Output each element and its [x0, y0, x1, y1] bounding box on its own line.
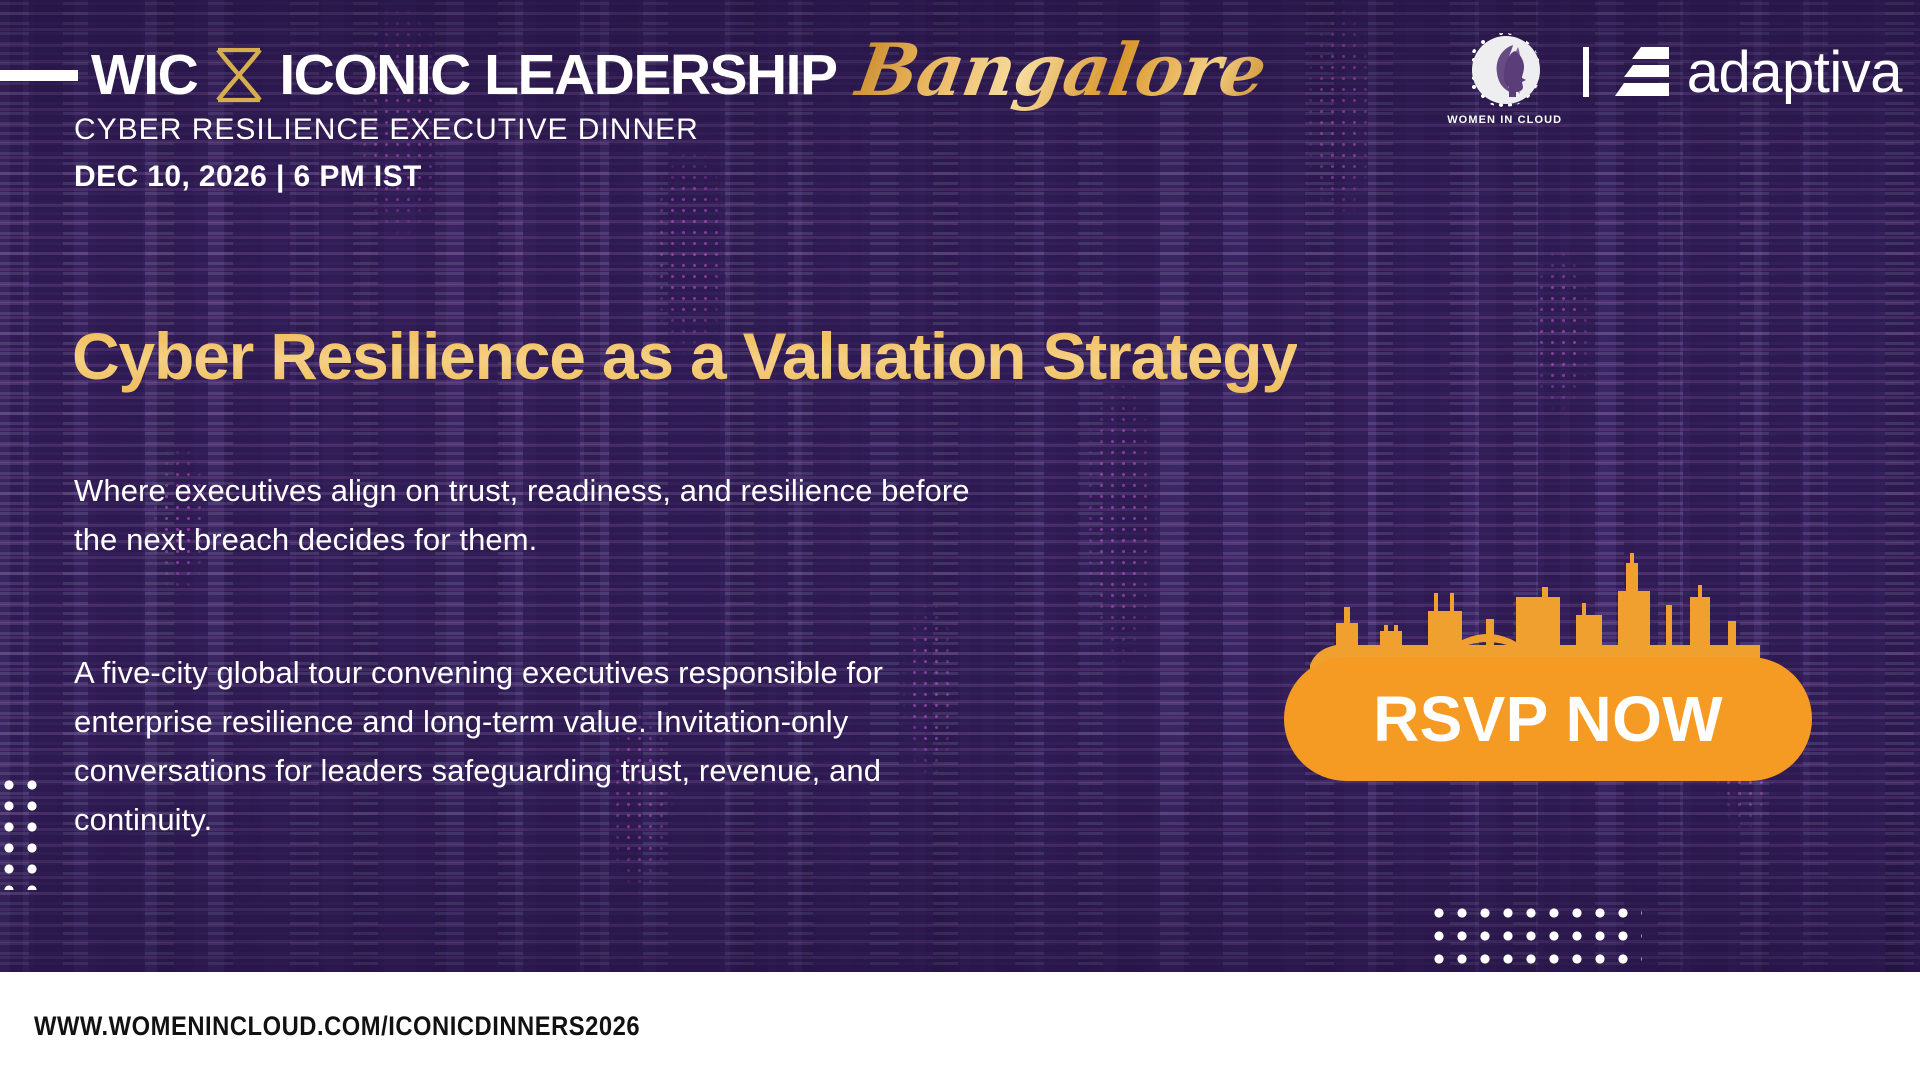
brand-lockup: WIC ICONIC LEADERSHIP Bangalore: [0, 34, 1270, 116]
description-paragraph: A five-city global tour convening execut…: [74, 648, 1014, 844]
dash-rule-icon: [0, 70, 78, 81]
adaptiva-wordmark: adaptiva: [1687, 39, 1902, 106]
event-subtitle: CYBER RESILIENCE EXECUTIVE DINNER: [74, 113, 699, 147]
logo-divider-icon: [1583, 47, 1589, 97]
adaptiva-logo: adaptiva: [1611, 39, 1902, 106]
rsvp-now-button[interactable]: RSVP NOW: [1284, 657, 1812, 781]
wic-wordmark: WIC: [91, 42, 197, 108]
wic-diamond-icon: [213, 44, 265, 106]
city-name: Bangalore: [848, 34, 1276, 116]
program-name: ICONIC LEADERSHIP: [279, 42, 836, 108]
footer-url[interactable]: WWW.WOMENINCLOUD.COM/ICONICDINNERS2026: [34, 1011, 640, 1042]
event-promo-poster: WIC ICONIC LEADERSHIP Bangalore CYBER RE…: [0, 0, 1920, 1080]
rsvp-now-label: RSVP NOW: [1373, 682, 1723, 756]
woman-silhouette-icon: [1471, 35, 1541, 105]
intro-paragraph: Where executives align on trust, readine…: [74, 466, 974, 564]
dot-grid-left-decoration: [4, 780, 38, 890]
footer-bar: WWW.WOMENINCLOUD.COM/ICONICDINNERS2026: [0, 972, 1920, 1080]
women-in-cloud-logo: WOMEN IN CLOUD: [1445, 20, 1565, 124]
partner-logos: WOMEN IN CLOUD adaptiva: [1445, 20, 1902, 124]
adaptiva-mark-icon: [1611, 43, 1675, 101]
page-title: Cyber Resilience as a Valuation Strategy: [72, 318, 1297, 394]
women-in-cloud-label: WOMEN IN CLOUD: [1445, 114, 1565, 126]
dot-grid-bottom-right-decoration: [1434, 908, 1642, 970]
event-datetime: DEC 10, 2026 | 6 PM IST: [74, 160, 422, 194]
